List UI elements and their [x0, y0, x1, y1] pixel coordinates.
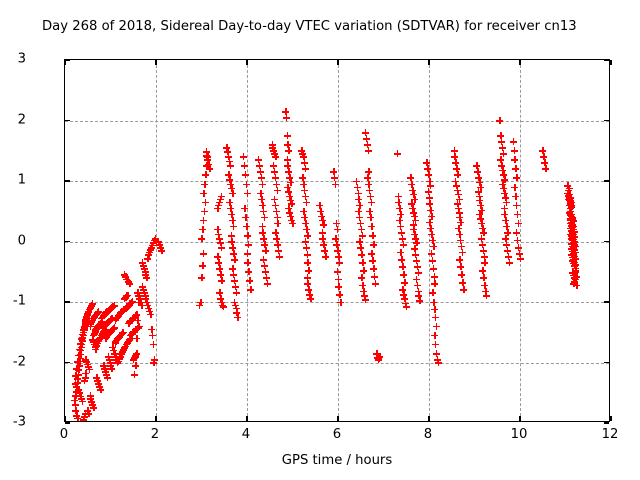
data-point — [513, 174, 520, 181]
data-point — [514, 211, 521, 218]
data-point — [283, 114, 290, 121]
data-point — [198, 274, 205, 281]
data-point — [332, 181, 339, 188]
data-point — [284, 132, 291, 139]
data-point — [432, 314, 439, 321]
data-point — [138, 302, 145, 309]
y-axis-tick-label: -1 — [0, 294, 26, 307]
data-point — [231, 256, 238, 263]
data-point — [322, 253, 329, 260]
data-point — [202, 199, 209, 206]
data-point — [111, 302, 118, 309]
data-point — [134, 317, 141, 324]
data-point — [433, 323, 440, 330]
data-point — [369, 257, 376, 264]
data-point — [274, 220, 281, 227]
data-point — [200, 190, 207, 197]
data-point — [479, 267, 486, 274]
data-point — [459, 249, 466, 256]
data-point — [244, 250, 251, 257]
data-point — [143, 274, 150, 281]
data-point — [400, 271, 407, 278]
data-point — [111, 324, 118, 331]
data-point — [459, 279, 466, 286]
data-point — [199, 226, 206, 233]
data-point — [73, 365, 80, 372]
y-axis-tick-label: 0 — [0, 234, 26, 247]
data-point — [368, 250, 375, 257]
data-point — [458, 271, 465, 278]
data-point — [244, 190, 251, 197]
data-point — [201, 208, 208, 215]
y-axis-tick-label: 3 — [0, 52, 26, 65]
data-point — [131, 371, 138, 378]
x-axis-title: GPS time / hours — [64, 452, 610, 470]
data-point — [432, 341, 439, 348]
data-point — [234, 314, 241, 321]
data-point — [158, 247, 165, 254]
data-point — [149, 332, 156, 339]
chart-root: Day 268 of 2018, Sidereal Day-to-day VTE… — [0, 0, 640, 480]
data-point — [511, 156, 518, 163]
data-point — [104, 374, 111, 381]
y-axis-tick-label: -2 — [0, 355, 26, 368]
data-point — [74, 358, 81, 365]
data-point — [514, 237, 521, 244]
data-point — [431, 332, 438, 339]
data-point — [430, 299, 437, 306]
data-point — [517, 255, 524, 262]
data-point — [368, 199, 375, 206]
data-point — [357, 244, 364, 251]
data-point — [368, 223, 375, 230]
data-point — [542, 165, 549, 172]
data-point — [456, 256, 463, 263]
data-point — [568, 202, 575, 209]
data-point — [336, 259, 343, 266]
data-point — [372, 280, 379, 287]
data-point — [302, 165, 309, 172]
data-point — [272, 153, 279, 160]
data-point — [480, 274, 487, 281]
chart-title: Day 268 of 2018, Sidereal Day-to-day VTE… — [42, 17, 638, 37]
data-point — [566, 185, 573, 192]
data-point — [365, 147, 372, 154]
x-axis-tick-label: 10 — [499, 427, 539, 443]
data-point — [512, 165, 519, 172]
data-point — [82, 410, 89, 417]
data-point — [243, 223, 250, 230]
data-point — [370, 265, 377, 272]
data-point — [400, 241, 407, 248]
data-point — [259, 181, 266, 188]
data-point — [510, 138, 517, 145]
y-axis-tick-label: 1 — [0, 173, 26, 186]
data-point — [337, 299, 344, 306]
data-point — [371, 273, 378, 280]
data-point — [431, 306, 438, 313]
data-point — [513, 229, 520, 236]
data-point — [511, 147, 518, 154]
data-point — [334, 226, 341, 233]
data-point — [97, 386, 104, 393]
data-point — [230, 223, 237, 230]
data-point — [201, 181, 208, 188]
data-point — [136, 323, 143, 330]
data-point — [82, 370, 89, 377]
data-point — [243, 181, 250, 188]
data-point — [289, 220, 296, 227]
data-point — [430, 265, 437, 272]
data-point — [496, 117, 503, 124]
data-point — [360, 267, 367, 274]
data-point — [218, 193, 225, 200]
data-point — [245, 268, 252, 275]
data-point — [247, 286, 254, 293]
data-point — [481, 259, 488, 266]
data-point — [515, 220, 522, 227]
data-point — [147, 311, 154, 318]
data-point — [513, 202, 520, 209]
data-point — [304, 259, 311, 266]
x-axis-tick-label: 0 — [44, 427, 84, 443]
data-point — [303, 199, 310, 206]
data-point — [218, 277, 225, 284]
data-point — [89, 300, 96, 307]
data-point — [303, 244, 310, 251]
data-point — [506, 259, 513, 266]
data-point — [150, 359, 157, 366]
data-point — [460, 286, 467, 293]
x-axis-tick — [610, 60, 611, 65]
data-point — [358, 274, 365, 281]
data-point — [370, 241, 377, 248]
data-point — [240, 153, 247, 160]
data-point — [244, 259, 251, 266]
data-point — [307, 295, 314, 302]
data-point — [304, 251, 311, 258]
data-layer — [65, 60, 609, 421]
data-point — [92, 346, 99, 353]
data-point — [483, 292, 490, 299]
data-point — [401, 279, 408, 286]
data-point — [241, 205, 248, 212]
data-point — [199, 262, 206, 269]
data-point — [416, 297, 423, 304]
y-axis-tick — [65, 422, 70, 423]
data-point — [320, 221, 327, 228]
data-point — [399, 263, 406, 270]
data-point — [117, 351, 124, 358]
data-point — [429, 289, 436, 296]
data-point — [430, 243, 437, 250]
data-point — [335, 283, 342, 290]
data-point — [244, 232, 251, 239]
data-point — [358, 251, 365, 258]
data-point — [305, 267, 312, 274]
data-point — [431, 280, 438, 287]
data-point — [274, 187, 281, 194]
data-point — [264, 280, 271, 287]
x-axis-tick-label: 2 — [135, 427, 175, 443]
data-point — [227, 162, 234, 169]
data-point — [376, 353, 383, 360]
x-axis-tick — [610, 416, 611, 421]
data-point — [572, 268, 579, 275]
data-point — [198, 235, 205, 242]
data-point — [457, 263, 464, 270]
data-point — [335, 276, 342, 283]
data-point — [126, 280, 133, 287]
data-point — [336, 291, 343, 298]
data-point — [403, 303, 410, 310]
y-axis-tick-label: -3 — [0, 415, 26, 428]
data-point — [262, 247, 269, 254]
data-point — [512, 193, 519, 200]
data-point — [132, 362, 139, 369]
data-point — [435, 359, 442, 366]
data-point — [197, 299, 204, 306]
data-point — [428, 250, 435, 257]
data-point — [233, 289, 240, 296]
data-point — [246, 277, 253, 284]
data-point — [362, 296, 369, 303]
data-point — [200, 217, 207, 224]
y-axis-tick-label: 2 — [0, 113, 26, 126]
data-point — [398, 256, 405, 263]
data-point — [245, 241, 252, 248]
data-point — [359, 259, 366, 266]
data-point — [261, 214, 268, 221]
data-point — [394, 150, 401, 157]
data-point — [285, 147, 292, 154]
plot-area — [64, 59, 610, 422]
data-point — [276, 253, 283, 260]
data-point — [367, 214, 374, 221]
data-point — [511, 184, 518, 191]
data-point — [133, 350, 140, 357]
data-point — [229, 190, 236, 197]
data-point — [200, 250, 207, 257]
data-point — [202, 171, 209, 178]
data-point — [571, 278, 578, 285]
data-point — [133, 335, 140, 342]
data-point — [242, 214, 249, 221]
y-axis-tick — [604, 422, 609, 423]
data-point — [218, 244, 225, 251]
data-point — [220, 303, 227, 310]
x-axis-tick-label: 4 — [226, 427, 266, 443]
data-point — [334, 268, 341, 275]
x-axis-tick-label: 8 — [408, 427, 448, 443]
data-point — [572, 261, 579, 268]
data-point — [241, 162, 248, 169]
data-point — [206, 165, 213, 172]
data-point — [72, 372, 79, 379]
data-point — [79, 398, 86, 405]
data-point — [242, 171, 249, 178]
data-point — [369, 232, 376, 239]
data-point — [431, 273, 438, 280]
data-point — [150, 341, 157, 348]
x-axis-tick-label: 6 — [317, 427, 357, 443]
x-axis-tick-label: 12 — [590, 427, 630, 443]
data-point — [429, 257, 436, 264]
data-point — [397, 249, 404, 256]
